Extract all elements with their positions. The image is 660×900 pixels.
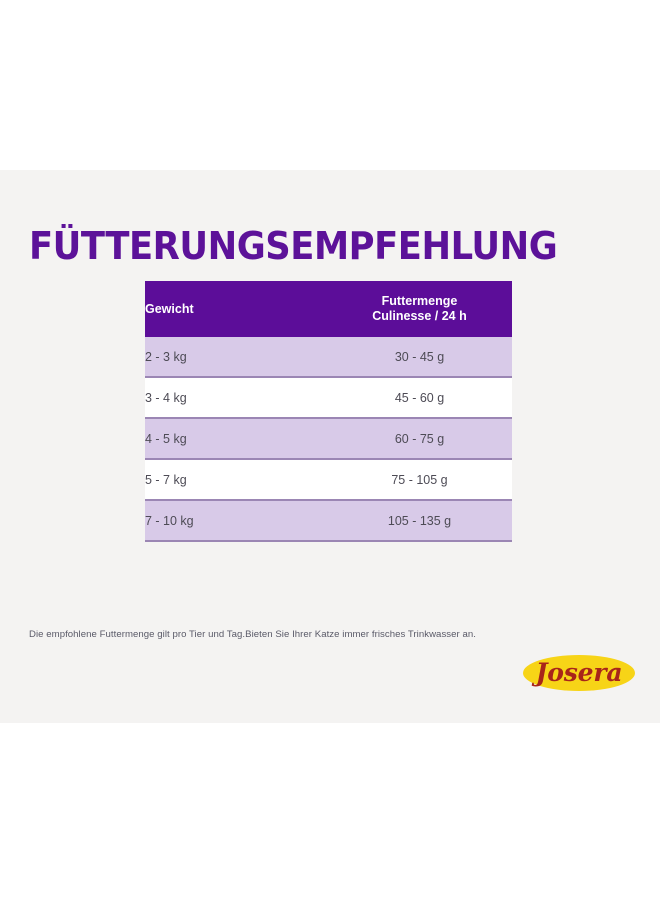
cell-amount: 45 - 60 g: [327, 377, 512, 418]
cell-amount: 30 - 45 g: [327, 337, 512, 377]
cell-amount: 60 - 75 g: [327, 418, 512, 459]
content-canvas: FÜTTERUNGSEMPFEHLUNG Gewicht Futtermenge…: [0, 170, 660, 723]
josera-logo: Josera: [523, 655, 635, 691]
table-row: 7 - 10 kg 105 - 135 g: [145, 500, 512, 541]
table-body: 2 - 3 kg 30 - 45 g 3 - 4 kg 45 - 60 g 4 …: [145, 337, 512, 541]
footnote-text: Die empfohlene Futtermenge gilt pro Tier…: [29, 629, 629, 640]
cell-weight: 5 - 7 kg: [145, 459, 327, 500]
logo-wordmark: Josera: [523, 655, 635, 691]
table-header: Gewicht Futtermenge Culinesse / 24 h: [145, 281, 512, 337]
column-header-amount-line1: Futtermenge: [327, 294, 512, 309]
cell-amount: 75 - 105 g: [327, 459, 512, 500]
table-row: 2 - 3 kg 30 - 45 g: [145, 337, 512, 377]
cell-amount: 105 - 135 g: [327, 500, 512, 541]
table-row: 4 - 5 kg 60 - 75 g: [145, 418, 512, 459]
column-header-amount: Futtermenge Culinesse / 24 h: [327, 281, 512, 337]
product-info-sheet: FÜTTERUNGSEMPFEHLUNG Gewicht Futtermenge…: [0, 0, 660, 900]
column-header-amount-line2: Culinesse / 24 h: [327, 309, 512, 324]
page-title: FÜTTERUNGSEMPFEHLUNG: [29, 225, 587, 267]
cell-weight: 4 - 5 kg: [145, 418, 327, 459]
table-header-row: Gewicht Futtermenge Culinesse / 24 h: [145, 281, 512, 337]
table-row: 5 - 7 kg 75 - 105 g: [145, 459, 512, 500]
cell-weight: 2 - 3 kg: [145, 337, 327, 377]
cell-weight: 7 - 10 kg: [145, 500, 327, 541]
table-row: 3 - 4 kg 45 - 60 g: [145, 377, 512, 418]
feeding-recommendation-table: Gewicht Futtermenge Culinesse / 24 h 2 -…: [145, 281, 512, 542]
cell-weight: 3 - 4 kg: [145, 377, 327, 418]
column-header-weight: Gewicht: [145, 281, 327, 337]
